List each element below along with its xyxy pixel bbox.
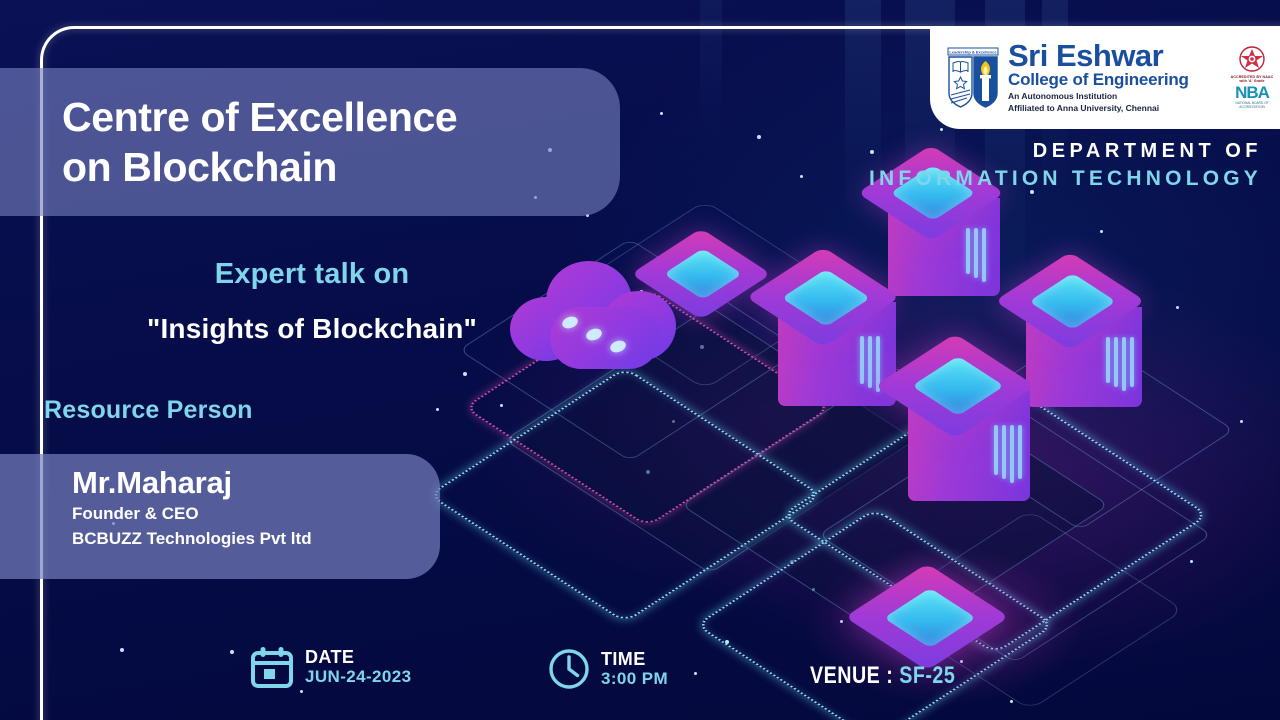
college-crest-icon: Leadership & Excellence — [946, 47, 1000, 109]
speaker-card: Mr.Maharaj Founder & CEO BCBUZZ Technolo… — [0, 454, 440, 579]
date-label: DATE — [305, 648, 411, 667]
college-tagline-2: Affiliated to Anna University, Chennai — [1008, 103, 1220, 114]
title-line1: Centre of Excellence — [62, 92, 620, 142]
event-poster: Leadership & Excellence Sri Eshwar Colle… — [0, 0, 1280, 720]
speaker-role: Founder & CEO — [72, 502, 440, 527]
talk-block: Expert talk on "Insights of Blockchain" — [62, 258, 562, 345]
talk-prefix: Expert talk on — [62, 258, 562, 291]
svg-text:Leadership & Excellence: Leadership & Excellence — [949, 49, 997, 54]
poster-title-banner: Centre of Excellence on Blockchain — [0, 68, 620, 216]
college-name-line1: Sri Eshwar — [1008, 41, 1220, 70]
college-logo-card: Leadership & Excellence Sri Eshwar Colle… — [930, 26, 1280, 129]
department-block: DEPARTMENT OF INFORMATION TECHNOLOGY — [869, 140, 1262, 191]
venue-value: SF-25 — [899, 662, 955, 689]
time-label: TIME — [601, 650, 668, 669]
clock-icon — [548, 648, 590, 690]
naac-badge-icon — [1237, 46, 1267, 74]
date-block: DATE JUN-24-2023 — [250, 645, 411, 689]
calendar-icon — [250, 645, 294, 689]
speaker-organization: BCBUZZ Technologies Pvt ltd — [72, 527, 440, 552]
time-block: TIME 3:00 PM — [548, 648, 668, 690]
department-line2: INFORMATION TECHNOLOGY — [869, 167, 1262, 191]
nba-logo-text: NBA — [1235, 84, 1269, 101]
talk-topic: "Insights of Blockchain" — [62, 313, 562, 345]
department-line1: DEPARTMENT OF — [869, 140, 1262, 163]
naac-caption: ACCREDITED BY NAAC with 'A' Grade — [1228, 75, 1276, 83]
venue-block: VENUE : SF-25 — [810, 662, 955, 690]
accreditation-badges: ACCREDITED BY NAAC with 'A' Grade NBA NA… — [1228, 46, 1276, 110]
speaker-name: Mr.Maharaj — [72, 466, 440, 500]
resource-person-heading: Resource Person — [44, 396, 253, 425]
nba-caption: NATIONAL BOARD OF ACCREDITATION — [1228, 102, 1276, 110]
college-tagline-1: An Autonomous Institution — [1008, 91, 1220, 102]
college-name-line2: College of Engineering — [1008, 71, 1220, 89]
college-name-block: Sri Eshwar College of Engineering An Aut… — [1008, 41, 1220, 114]
title-line2: on Blockchain — [62, 142, 620, 192]
time-value: 3:00 PM — [601, 669, 668, 689]
venue-label: VENUE : — [810, 662, 899, 689]
date-value: JUN-24-2023 — [305, 667, 411, 687]
